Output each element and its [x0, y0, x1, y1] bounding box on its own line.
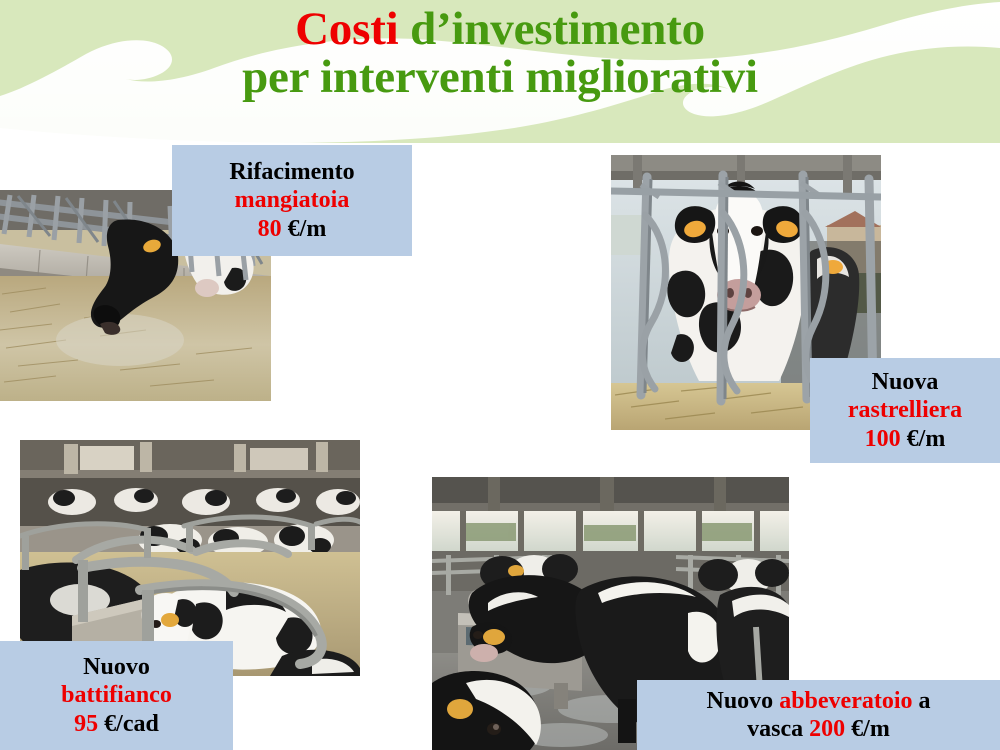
caption-2-line-1: Nuova [810, 368, 1000, 396]
caption-4-line-2: vasca 200 €/m [637, 715, 1000, 743]
caption-nuovo-abbeveratoio: Nuovo abbeveratoio a vasca 200 €/m [637, 680, 1000, 750]
caption-2-price-value: 100 [865, 426, 901, 452]
caption-3-price: 95 €/cad [0, 710, 233, 738]
title-word-costi: Costi [295, 3, 398, 55]
caption-rifacimento-mangiatoia: Rifacimento mangiatoia 80 €/m [172, 145, 412, 256]
caption-4-word-a: a [919, 688, 931, 714]
caption-2-price: 100 €/m [810, 425, 1000, 453]
caption-1-line-2: mangiatoia [172, 186, 412, 214]
caption-1-price: 80 €/m [172, 215, 412, 243]
caption-3-price-value: 95 [74, 711, 98, 737]
caption-2-price-unit: €/m [907, 426, 946, 452]
caption-1-price-unit: €/m [288, 216, 327, 242]
caption-4-word-abbeveratoio: abbeveratoio [779, 688, 912, 714]
slide-title: Costi d’investimento per interventi migl… [0, 6, 1000, 102]
caption-2-line-2: rastrelliera [810, 396, 1000, 424]
caption-4-price-unit: €/m [851, 716, 890, 742]
title-line-2: per interventi migliorativi [0, 54, 1000, 102]
caption-nuova-rastrelliera: Nuova rastrelliera 100 €/m [810, 358, 1000, 463]
caption-3-line-1: Nuovo [0, 653, 233, 681]
caption-3-line-2: battifianco [0, 681, 233, 709]
caption-1-line-1: Rifacimento [172, 158, 412, 186]
caption-nuovo-battifianco: Nuovo battifianco 95 €/cad [0, 641, 233, 750]
caption-4-line-1: Nuovo abbeveratoio a [637, 687, 1000, 715]
caption-4-price-value: 200 [809, 716, 845, 742]
caption-4-word-nuovo: Nuovo [707, 688, 774, 714]
caption-3-price-unit: €/cad [104, 711, 159, 737]
slide-canvas: Costi d’investimento per interventi migl… [0, 0, 1000, 750]
title-word-investimento: d’investimento [410, 3, 705, 55]
caption-4-word-vasca: vasca [747, 716, 803, 742]
caption-1-price-value: 80 [258, 216, 282, 242]
title-line-1: Costi d’investimento [0, 6, 1000, 54]
